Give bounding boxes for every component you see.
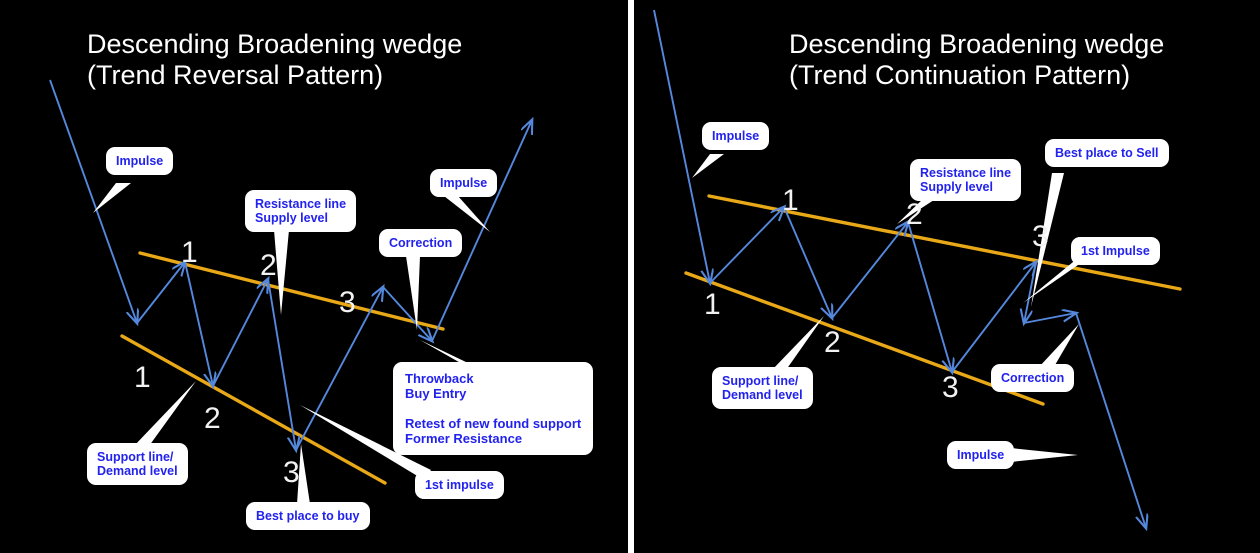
right-wave-high-1: 1 bbox=[782, 186, 799, 216]
left-wave-low-2: 2 bbox=[204, 404, 221, 434]
callout-support-line[interactable]: Support line/ Demand level bbox=[87, 443, 188, 485]
right-title-line1: Descending Broadening wedge bbox=[789, 29, 1164, 59]
callout-best-place-to-buy[interactable]: Best place to buy bbox=[246, 502, 370, 530]
right-wave-high-2: 2 bbox=[906, 200, 923, 230]
panel-trend-continuation: Descending Broadening wedge(Trend Contin… bbox=[634, 0, 1260, 553]
callout-impulse-bottom[interactable]: Impulse bbox=[947, 441, 1014, 469]
callout-first-impulse[interactable]: 1st impulse bbox=[415, 471, 504, 499]
left-wave-low-1: 1 bbox=[134, 363, 151, 393]
callout-impulse-right[interactable]: Impulse bbox=[430, 169, 497, 197]
callout-best-place-to-sell[interactable]: Best place to Sell bbox=[1045, 139, 1169, 167]
callout-correction[interactable]: Correction bbox=[991, 364, 1074, 392]
right-callout-tails bbox=[692, 154, 1084, 466]
callout-impulse-left[interactable]: Impulse bbox=[702, 122, 769, 150]
left-title-line1: Descending Broadening wedge bbox=[87, 29, 462, 59]
callout-resistance-line[interactable]: Resistance line Supply level bbox=[910, 159, 1021, 201]
callout-support-line[interactable]: Support line/ Demand level bbox=[712, 367, 813, 409]
right-wave-low-1: 1 bbox=[704, 290, 721, 320]
right-title-line2: (Trend Continuation Pattern) bbox=[789, 60, 1130, 90]
tail-support bbox=[772, 316, 824, 370]
diagram-canvas: Descending Broadening wedge(Trend Revers… bbox=[0, 0, 1260, 553]
right-wave-high-3: 3 bbox=[1032, 222, 1049, 252]
callout-first-impulse[interactable]: 1st Impulse bbox=[1071, 237, 1160, 265]
callout-correction[interactable]: Correction bbox=[379, 229, 462, 257]
tail-impulse-left bbox=[692, 154, 724, 178]
left-wave-high-2: 2 bbox=[260, 251, 277, 281]
right-wave-low-2: 2 bbox=[824, 328, 841, 358]
panel-trend-reversal: Descending Broadening wedge(Trend Revers… bbox=[0, 0, 628, 553]
right-wave-low-3: 3 bbox=[942, 373, 959, 403]
left-title-line2: (Trend Reversal Pattern) bbox=[87, 60, 383, 90]
callout-resistance-line[interactable]: Resistance line Supply level bbox=[245, 190, 356, 232]
callout-impulse-left[interactable]: Impulse bbox=[106, 147, 173, 175]
left-panel-title: Descending Broadening wedge(Trend Revers… bbox=[87, 29, 462, 91]
right-panel-title: Descending Broadening wedge(Trend Contin… bbox=[789, 29, 1164, 91]
left-wave-high-3: 3 bbox=[339, 288, 356, 318]
callout-throwback[interactable]: Throwback Buy Entry Retest of new found … bbox=[393, 362, 593, 455]
tail-impulse-left bbox=[93, 183, 131, 213]
left-wave-high-1: 1 bbox=[181, 238, 198, 268]
left-wave-low-3: 3 bbox=[283, 458, 300, 488]
